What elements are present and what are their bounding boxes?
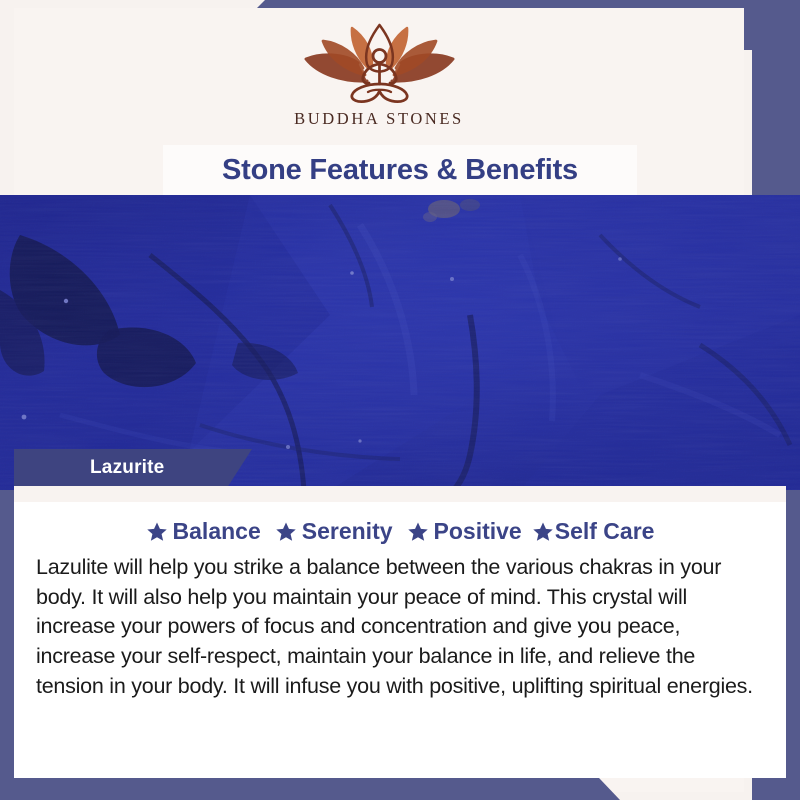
attribute-list: Balance Serenity Positive Self Care	[14, 518, 786, 545]
content-top-strip	[14, 486, 786, 502]
stone-name: Lazurite	[14, 457, 164, 479]
brand-header: BUDDHA STONES	[14, 8, 744, 148]
brand-name: BUDDHA STONES	[294, 109, 464, 129]
attribute-self-care: Self Care	[532, 518, 655, 545]
star-icon	[407, 521, 429, 543]
content-panel: Balance Serenity Positive Self Care	[14, 486, 786, 778]
stone-name-tag: Lazurite	[14, 449, 252, 486]
attribute-label: Balance	[173, 518, 261, 545]
poster: BUDDHA STONES Stone Features & Benefits	[0, 0, 800, 800]
attribute-serenity: Serenity	[275, 518, 393, 545]
star-icon	[146, 521, 168, 543]
star-icon	[532, 521, 554, 543]
star-icon	[275, 521, 297, 543]
attribute-label: Serenity	[302, 518, 393, 545]
decor-navy-left-band	[0, 486, 14, 800]
lotus-meditation-icon	[292, 22, 467, 107]
stone-description: Lazulite will help you strike a balance …	[36, 553, 764, 701]
attribute-balance: Balance	[146, 518, 261, 545]
page-title: Stone Features & Benefits	[222, 154, 578, 187]
attribute-label: Self Care	[555, 518, 655, 545]
title-banner: Stone Features & Benefits	[163, 145, 637, 195]
attribute-positive: Positive	[407, 518, 522, 545]
lazurite-stone-photo	[0, 195, 800, 490]
attribute-label: Positive	[434, 518, 522, 545]
